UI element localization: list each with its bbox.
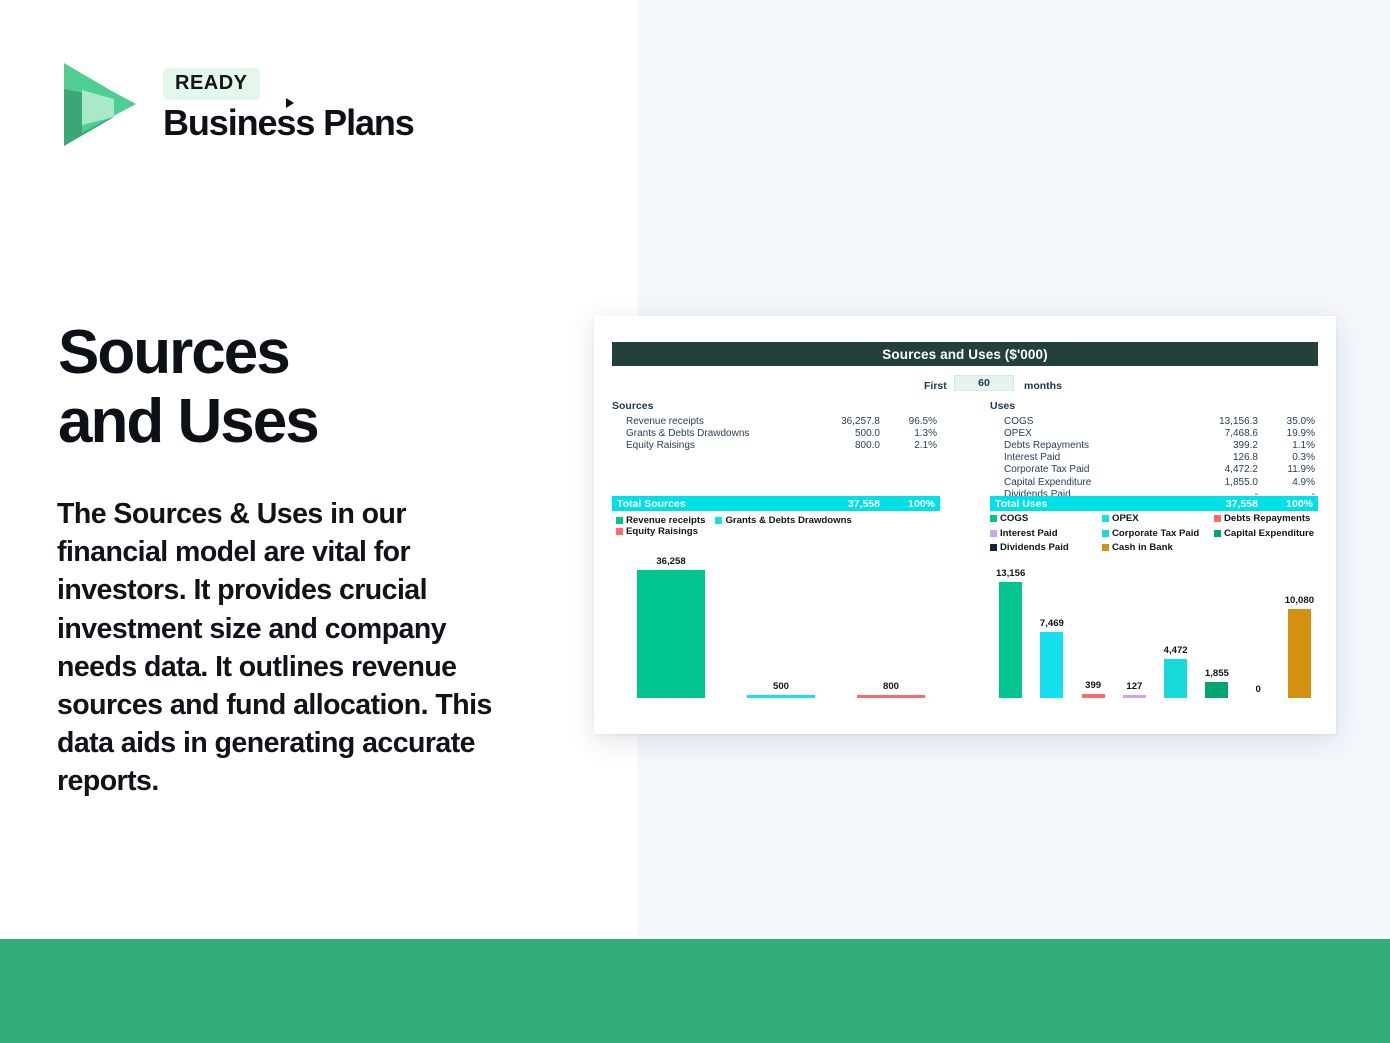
total-sources-row: Total Sources 37,558 100% bbox=[612, 496, 940, 511]
bar-column: 127 bbox=[1114, 548, 1155, 698]
brand-logo[interactable]: READY Business Plans bbox=[58, 57, 414, 152]
legend-item[interactable]: Debts Repayments bbox=[1214, 513, 1326, 524]
uses-header: Uses bbox=[990, 400, 1318, 412]
bar-column: 800 bbox=[836, 548, 946, 698]
bar-rect bbox=[857, 695, 925, 698]
source-row-label: Equity Raisings bbox=[612, 440, 792, 451]
bar-rect bbox=[1164, 659, 1187, 698]
period-prefix-label: First bbox=[924, 380, 947, 392]
sources-and-uses-card: Sources and Uses ($'000) First 60 months… bbox=[594, 316, 1336, 734]
table-row: COGS13,156.335.0% bbox=[990, 415, 1318, 427]
bar-value-label: 13,156 bbox=[996, 568, 1025, 579]
brand-name-text: Business Plans bbox=[163, 102, 414, 143]
legend-label: Equity Raisings bbox=[626, 526, 698, 537]
bar-column: 4,472 bbox=[1155, 548, 1196, 698]
play-triangle-logo-icon bbox=[58, 57, 143, 152]
legend-swatch-icon bbox=[1102, 530, 1109, 537]
brand-name: Business Plans bbox=[163, 104, 414, 142]
bar-value-label: 4,472 bbox=[1164, 645, 1188, 656]
source-row-label: Grants & Debts Drawdowns bbox=[612, 428, 792, 439]
sources-chart-legend: Revenue receiptsGrants & Debts Drawdowns… bbox=[616, 515, 946, 537]
legend-swatch-icon bbox=[1214, 530, 1221, 537]
bar-value-label: 10,080 bbox=[1285, 595, 1314, 606]
table-row: OPEX7,468.619.9% bbox=[990, 427, 1318, 439]
table-row: Grants & Debts Drawdowns500.01.3% bbox=[612, 427, 940, 439]
bottom-accent-band bbox=[0, 939, 1390, 1043]
table-row: Equity Raisings800.02.1% bbox=[612, 439, 940, 451]
sources-table: Sources Revenue receipts36,257.896.5%Gra… bbox=[612, 400, 940, 452]
brand-play-accent-icon bbox=[286, 98, 294, 108]
bar-column: 10,080 bbox=[1279, 548, 1320, 698]
legend-label: Capital Expenditure bbox=[1224, 528, 1314, 539]
bar-rect bbox=[1123, 695, 1146, 698]
source-row-pct: 96.5% bbox=[880, 416, 940, 427]
bar-rect bbox=[999, 582, 1022, 698]
use-row-value: 126.8 bbox=[1170, 452, 1258, 463]
total-sources-pct: 100% bbox=[880, 498, 940, 510]
legend-label: COGS bbox=[1000, 513, 1028, 524]
bar-rect bbox=[1288, 609, 1311, 698]
legend-item[interactable]: Corporate Tax Paid bbox=[1102, 528, 1214, 539]
bar-column: 13,156 bbox=[990, 548, 1031, 698]
bar-value-label: 1,855 bbox=[1205, 668, 1229, 679]
source-row-pct: 2.1% bbox=[880, 440, 940, 451]
legend-item[interactable]: Capital Expenditure bbox=[1214, 528, 1326, 539]
total-uses-label: Total Uses bbox=[990, 498, 1170, 510]
use-row-label: Interest Paid bbox=[990, 452, 1170, 463]
slide-root: READY Business Plans Sources and Uses Th… bbox=[0, 0, 1390, 1043]
period-suffix-label: months bbox=[1024, 380, 1062, 392]
bar-value-label: 36,258 bbox=[656, 556, 685, 567]
source-row-label: Revenue receipts bbox=[612, 416, 792, 427]
use-row-label: Corporate Tax Paid bbox=[990, 464, 1170, 475]
bar-value-label: 399 bbox=[1085, 680, 1101, 691]
bar-column: 1,855 bbox=[1196, 548, 1237, 698]
use-row-label: Debts Repayments bbox=[990, 440, 1170, 451]
legend-label: Corporate Tax Paid bbox=[1112, 528, 1199, 539]
sources-header: Sources bbox=[612, 400, 940, 412]
use-row-pct: 19.9% bbox=[1258, 428, 1318, 439]
use-row-pct: 4.9% bbox=[1258, 477, 1318, 488]
legend-item[interactable]: Grants & Debts Drawdowns bbox=[715, 515, 851, 526]
table-row: Capital Expenditure1,855.04.9% bbox=[990, 476, 1318, 488]
use-row-pct: 35.0% bbox=[1258, 416, 1318, 427]
legend-label: OPEX bbox=[1112, 513, 1139, 524]
legend-item[interactable]: Equity Raisings bbox=[616, 526, 698, 537]
table-row: Corporate Tax Paid4,472.211.9% bbox=[990, 464, 1318, 476]
bar-value-label: 500 bbox=[773, 681, 789, 692]
bar-column: 500 bbox=[726, 548, 836, 698]
ready-badge: READY bbox=[163, 68, 260, 100]
legend-label: Revenue receipts bbox=[626, 515, 705, 526]
bar-value-label: 127 bbox=[1126, 681, 1142, 692]
legend-label: Debts Repayments bbox=[1224, 513, 1310, 524]
legend-item[interactable]: COGS bbox=[990, 513, 1102, 524]
use-row-value: 13,156.3 bbox=[1170, 416, 1258, 427]
legend-swatch-icon bbox=[616, 517, 623, 524]
legend-label: Interest Paid bbox=[1000, 528, 1058, 539]
total-uses-value: 37,558 bbox=[1170, 498, 1258, 510]
use-row-value: 7,468.6 bbox=[1170, 428, 1258, 439]
months-input[interactable]: 60 bbox=[954, 375, 1014, 391]
bar-column: 36,258 bbox=[616, 548, 726, 698]
bar-rect bbox=[637, 570, 705, 698]
total-uses-pct: 100% bbox=[1258, 498, 1318, 510]
legend-item[interactable]: Interest Paid bbox=[990, 528, 1102, 539]
bar-rect bbox=[747, 695, 815, 698]
total-sources-value: 37,558 bbox=[792, 498, 880, 510]
use-row-value: 1,855.0 bbox=[1170, 477, 1258, 488]
sources-bar-chart: 36,258500800 bbox=[616, 548, 946, 698]
total-uses-row: Total Uses 37,558 100% bbox=[990, 496, 1318, 511]
source-row-value: 500.0 bbox=[792, 428, 880, 439]
bar-rect bbox=[1040, 632, 1063, 698]
bar-column: 399 bbox=[1073, 548, 1114, 698]
period-selector-row: First 60 months bbox=[612, 376, 1318, 396]
use-row-label: OPEX bbox=[990, 428, 1170, 439]
use-row-pct: 11.9% bbox=[1258, 464, 1318, 475]
legend-swatch-icon bbox=[1214, 515, 1221, 522]
legend-swatch-icon bbox=[616, 528, 623, 535]
legend-swatch-icon bbox=[990, 530, 997, 537]
use-row-label: COGS bbox=[990, 416, 1170, 427]
source-row-value: 800.0 bbox=[792, 440, 880, 451]
bar-value-label: 0 bbox=[1255, 684, 1260, 695]
legend-swatch-icon bbox=[990, 515, 997, 522]
bar-value-label: 7,469 bbox=[1040, 618, 1064, 629]
legend-item[interactable]: OPEX bbox=[1102, 513, 1214, 524]
legend-swatch-icon bbox=[1102, 515, 1109, 522]
legend-label: Grants & Debts Drawdowns bbox=[725, 515, 851, 526]
bar-rect bbox=[1205, 682, 1228, 698]
bar-column: 7,469 bbox=[1031, 548, 1072, 698]
source-row-value: 36,257.8 bbox=[792, 416, 880, 427]
use-row-value: 4,472.2 bbox=[1170, 464, 1258, 475]
bar-rect bbox=[1082, 694, 1105, 698]
bar-column: 0 bbox=[1238, 548, 1279, 698]
table-row: Debts Repayments399.21.1% bbox=[990, 439, 1318, 451]
use-row-value: 399.2 bbox=[1170, 440, 1258, 451]
table-row: Interest Paid126.80.3% bbox=[990, 452, 1318, 464]
source-row-pct: 1.3% bbox=[880, 428, 940, 439]
sheet-title-bar: Sources and Uses ($'000) bbox=[612, 342, 1318, 366]
table-row: Revenue receipts36,257.896.5% bbox=[612, 415, 940, 427]
legend-swatch-icon bbox=[715, 517, 722, 524]
use-row-pct: 1.1% bbox=[1258, 440, 1318, 451]
total-sources-label: Total Sources bbox=[612, 498, 792, 510]
legend-item[interactable]: Revenue receipts bbox=[616, 515, 705, 526]
uses-bar-chart: 13,1567,4693991274,4721,855010,080 bbox=[990, 548, 1320, 698]
use-row-pct: 0.3% bbox=[1258, 452, 1318, 463]
page-title: Sources and Uses bbox=[58, 318, 578, 457]
hero-description: The Sources & Uses in our financial mode… bbox=[57, 495, 497, 801]
bar-value-label: 800 bbox=[883, 681, 899, 692]
use-row-label: Capital Expenditure bbox=[990, 477, 1170, 488]
